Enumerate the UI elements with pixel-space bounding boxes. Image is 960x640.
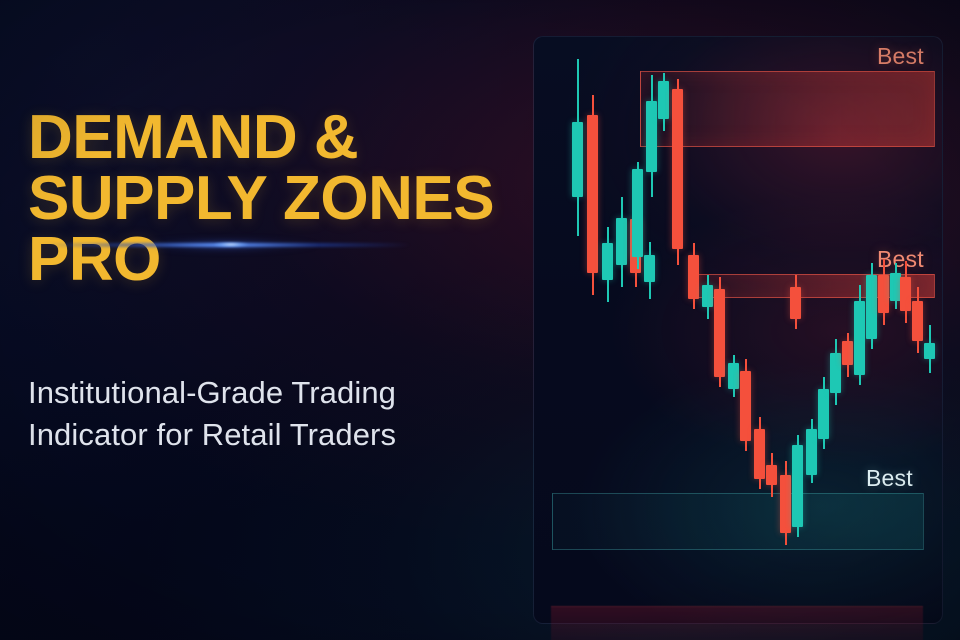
- demand-zone-lower: [552, 493, 924, 550]
- page-title: DEMAND & SUPPLY ZONES PRO: [28, 108, 528, 290]
- candle-3-up: [616, 197, 627, 287]
- title-line-3: PRO: [28, 225, 161, 294]
- candle-12-down: [714, 277, 725, 387]
- candle-5-up: [644, 242, 655, 299]
- demand-zone-lower-label: Best: [866, 465, 913, 492]
- candle-10-down: [688, 243, 699, 309]
- candle-13-up: [728, 355, 739, 397]
- candle-16-down: [766, 453, 777, 497]
- candle-body: [924, 343, 935, 359]
- candle-21-up: [830, 339, 841, 405]
- candle-29-down: [912, 287, 923, 353]
- candle-body: [780, 475, 791, 533]
- candle-body: [912, 301, 923, 341]
- candle-body: [830, 353, 841, 393]
- candle-6-up: [632, 162, 643, 269]
- candle-body: [818, 389, 829, 439]
- candle-1-down: [587, 95, 598, 295]
- title-line-2: SUPPLY ZONES: [28, 164, 494, 233]
- candle-body: [572, 122, 583, 197]
- candle-19-up: [806, 419, 817, 483]
- subtitle-line-1: Institutional-Grade Trading: [28, 375, 396, 410]
- candle-25-down: [878, 259, 889, 325]
- candle-2-up: [602, 227, 613, 302]
- supply-zone-upper: [640, 71, 935, 147]
- candle-17-down: [780, 461, 791, 545]
- hero-text-block: DEMAND & SUPPLY ZONES PRO: [28, 108, 528, 290]
- candle-body: [740, 371, 751, 441]
- candle-27-down: [900, 261, 911, 323]
- promo-banner: DEMAND & SUPPLY ZONES PRO Institutional-…: [0, 0, 960, 640]
- candle-body: [646, 101, 657, 172]
- candle-30-up: [924, 325, 935, 373]
- candle-24-up: [866, 263, 877, 349]
- candle-body: [644, 255, 655, 282]
- candle-7-up: [646, 75, 657, 197]
- candle-23-up: [854, 285, 865, 385]
- candle-22-down: [842, 333, 853, 377]
- candle-8-up: [658, 73, 669, 131]
- candle-body: [702, 285, 713, 307]
- candle-body: [854, 301, 865, 375]
- candle-body: [616, 218, 627, 265]
- candle-body: [672, 89, 683, 249]
- candle-body: [632, 169, 643, 257]
- candle-body: [688, 255, 699, 299]
- candle-18-up: [792, 435, 803, 537]
- candle-body: [602, 243, 613, 280]
- candle-28-down: [790, 275, 801, 329]
- candle-body: [766, 465, 777, 485]
- candle-body: [878, 275, 889, 313]
- candle-body: [754, 429, 765, 479]
- candle-0-up: [572, 59, 583, 236]
- candle-11-up: [702, 275, 713, 319]
- chart-plot-area: BestBestBest: [534, 37, 942, 623]
- candle-body: [728, 363, 739, 389]
- supply-zone-upper-label: Best: [877, 43, 924, 70]
- candle-14-down: [740, 359, 751, 451]
- candle-body: [806, 429, 817, 475]
- candle-20-up: [818, 377, 829, 449]
- candle-15-down: [754, 417, 765, 489]
- candlestick-chart-panel: BestBestBest: [533, 36, 943, 624]
- supply-zone-bottom-partial: [551, 606, 923, 640]
- subtitle-line-2: Indicator for Retail Traders: [28, 417, 396, 452]
- candle-body: [842, 341, 853, 365]
- candle-body: [714, 289, 725, 377]
- title-line-1: DEMAND &: [28, 103, 358, 172]
- candle-body: [866, 275, 877, 339]
- candle-body: [790, 287, 801, 319]
- candle-body: [658, 81, 669, 119]
- hero-subtitle: Institutional-Grade Trading Indicator fo…: [28, 372, 528, 455]
- candle-body: [587, 115, 598, 273]
- candle-body: [792, 445, 803, 527]
- candle-9-down: [672, 79, 683, 265]
- candle-body: [900, 277, 911, 311]
